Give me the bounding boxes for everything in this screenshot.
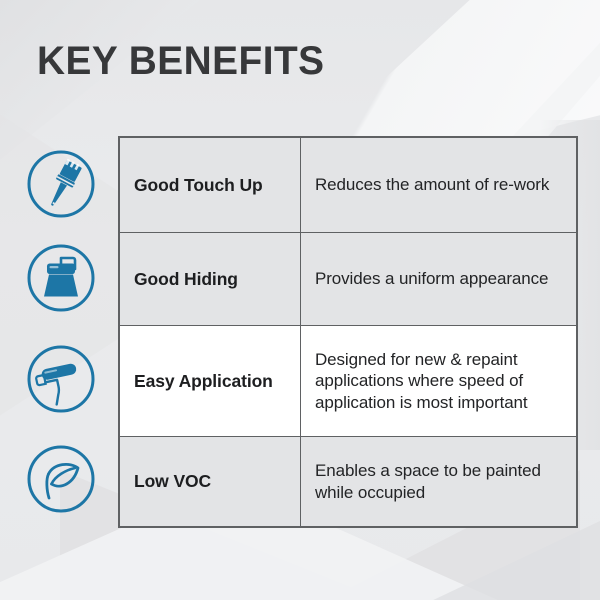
marketing-benefits-panel: KEY BENEFITS xyxy=(0,0,600,600)
page-title: KEY BENEFITS xyxy=(37,41,325,81)
benefit-description: Reduces the amount of re-work xyxy=(301,138,577,233)
benefit-description: Enables a space to be painted while occu… xyxy=(301,437,577,527)
benefit-icon-cell-2 xyxy=(21,231,101,324)
benefit-icon-cell-4 xyxy=(21,434,101,523)
benefit-name: Easy Application xyxy=(120,326,301,437)
benefit-name: Good Touch Up xyxy=(120,138,301,233)
benefit-description: Designed for new & repaint applications … xyxy=(301,326,577,437)
benefit-icon-cell-1 xyxy=(21,136,101,231)
benefit-name: Low VOC xyxy=(120,437,301,527)
table-row: Easy Application Designed for new & repa… xyxy=(120,326,577,437)
paint-roller-front-icon xyxy=(25,242,97,314)
benefit-name: Good Hiding xyxy=(120,233,301,326)
benefits-table: Good Touch Up Reduces the amount of re-w… xyxy=(118,136,578,528)
table-row: Good Touch Up Reduces the amount of re-w… xyxy=(120,138,577,233)
leaf-icon xyxy=(25,443,97,515)
paintbrush-icon xyxy=(25,148,97,220)
benefit-icon-column xyxy=(21,136,101,523)
table-row: Low VOC Enables a space to be painted wh… xyxy=(120,437,577,527)
benefit-description: Provides a uniform appearance xyxy=(301,233,577,326)
table-row: Good Hiding Provides a uniform appearanc… xyxy=(120,233,577,326)
benefit-icon-cell-3 xyxy=(21,324,101,434)
paint-roller-side-icon xyxy=(25,343,97,415)
